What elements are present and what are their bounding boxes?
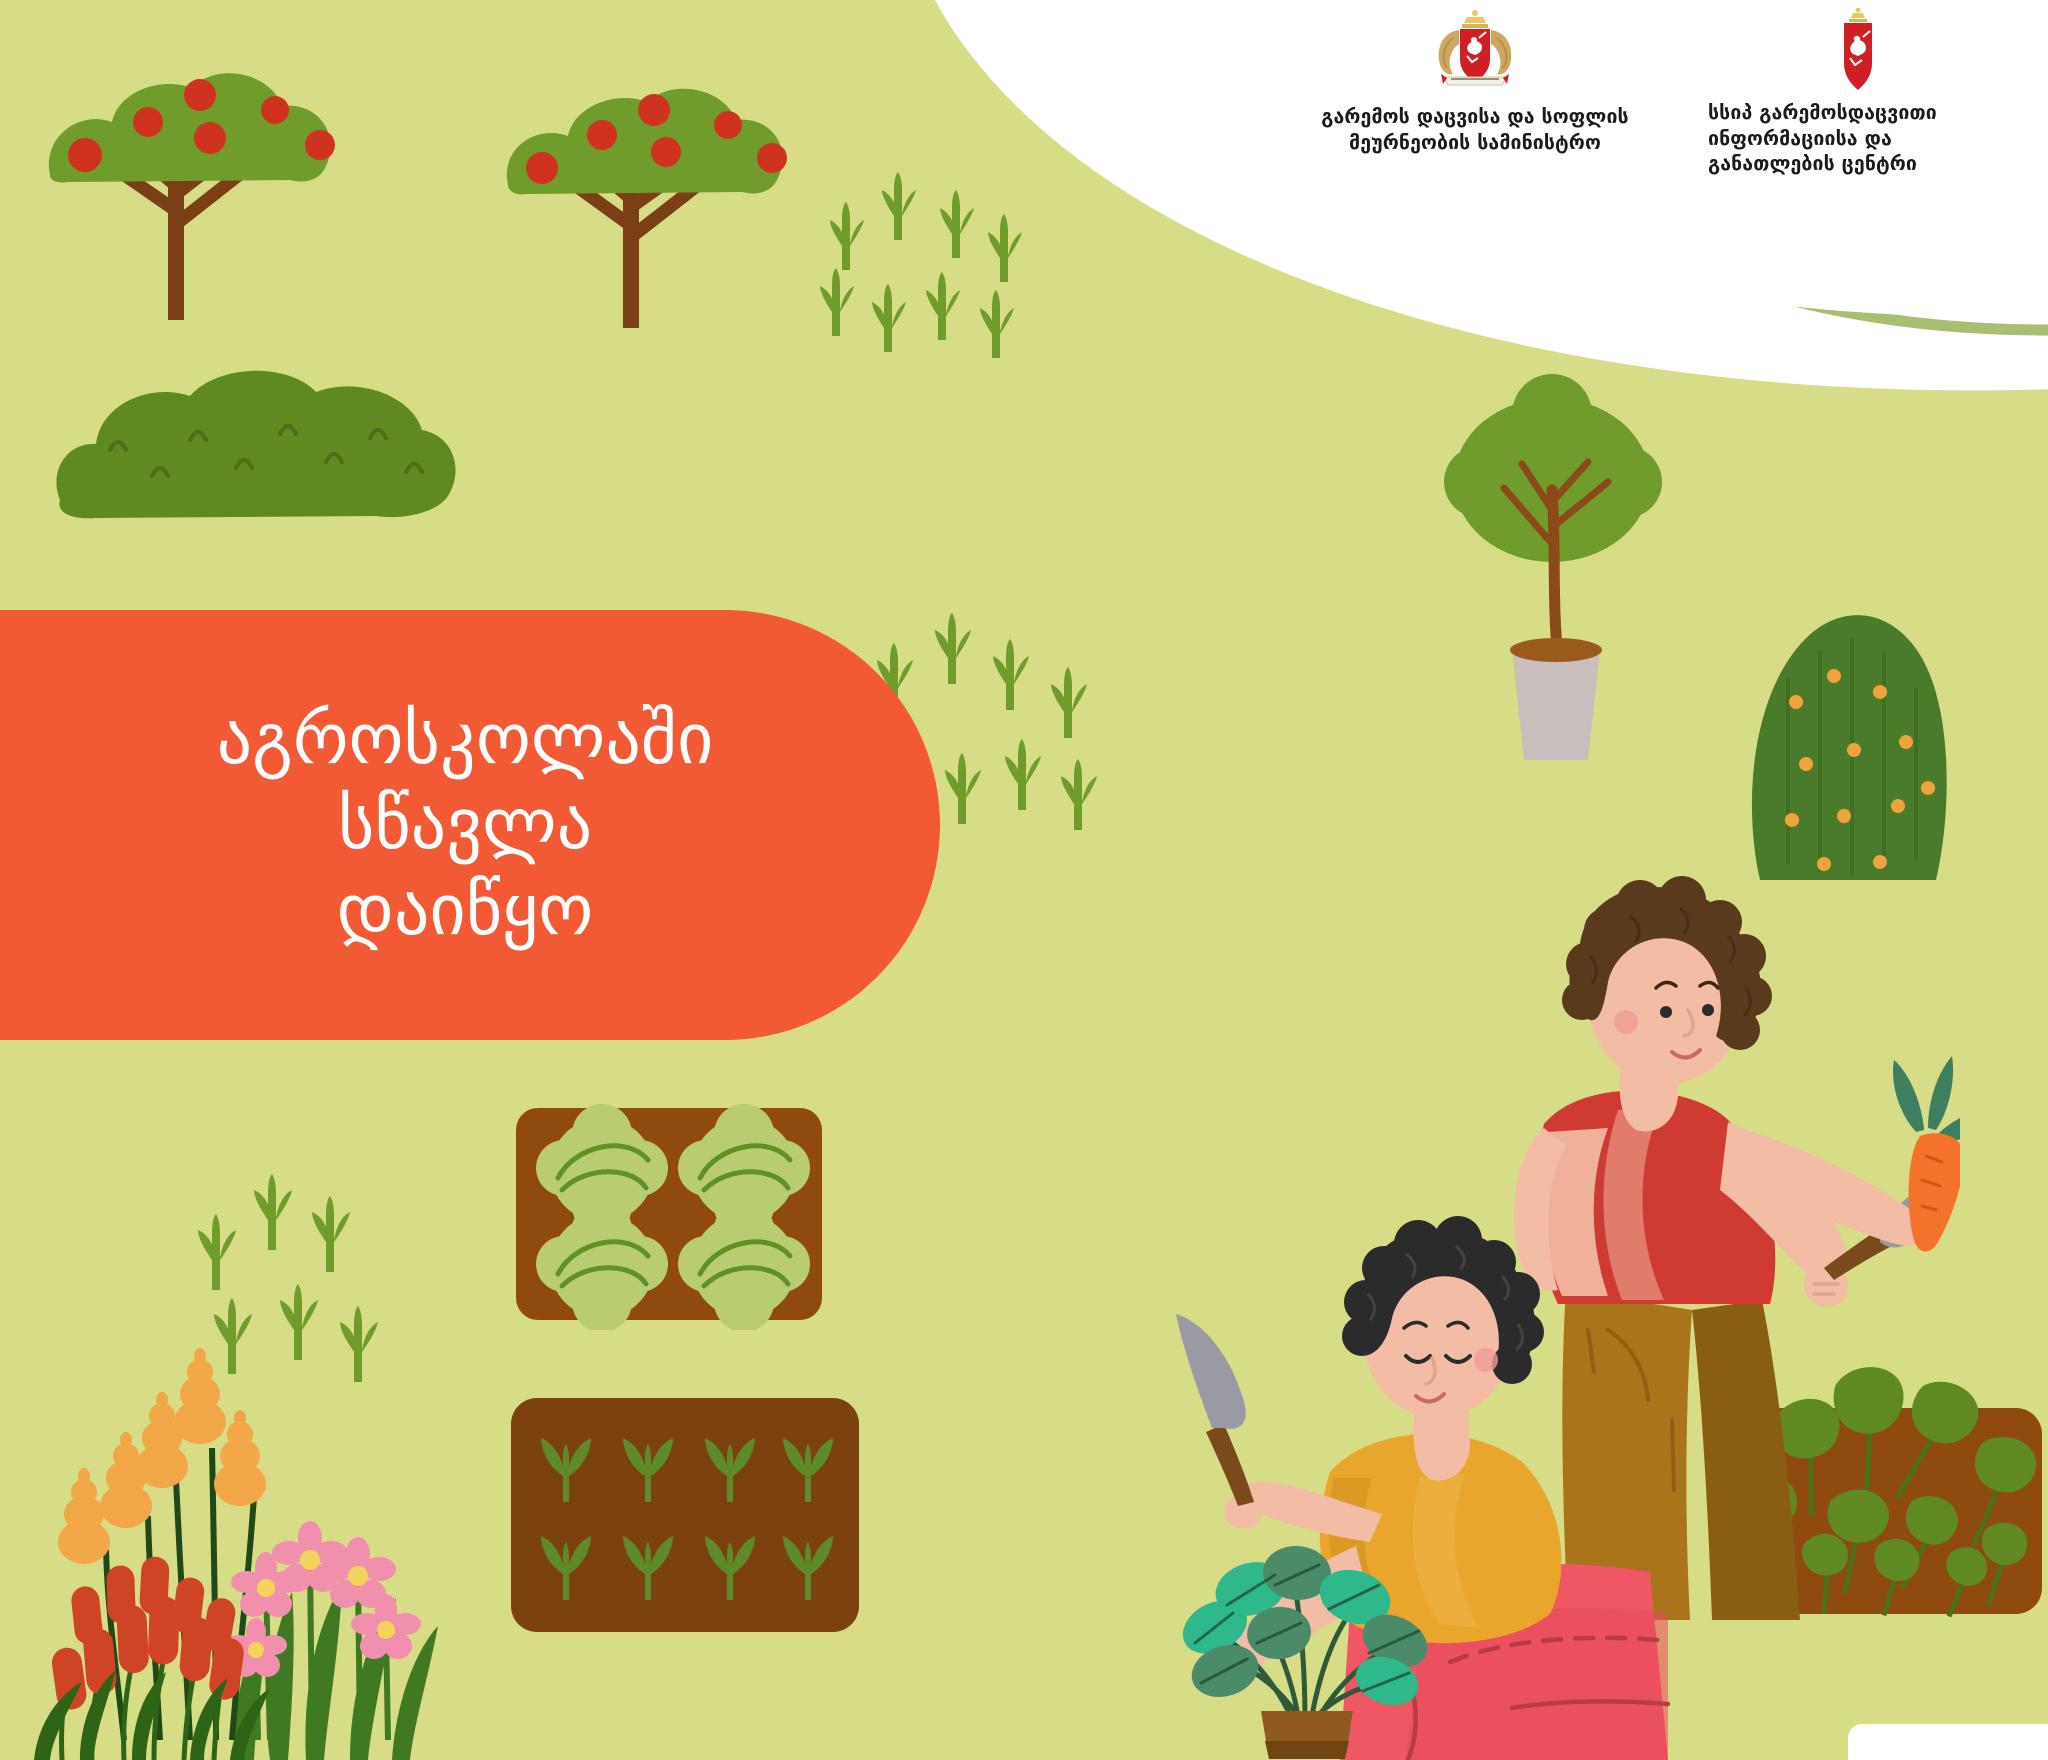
potted-tree: [1440, 370, 1670, 790]
title-line-3: დაიწყო: [217, 868, 714, 953]
flower-cluster: [20, 1320, 440, 1760]
hedge-bush: [40, 330, 470, 540]
title-line-2: სწავლა: [217, 782, 714, 867]
title-line-1: აგროსკოლაში: [217, 697, 714, 782]
header-logo-row: გარემოს დაცვისა და სოფლის მეურნეობის სამ…: [1310, 8, 2008, 177]
apple-tree-left: [20, 10, 350, 330]
logo-ministry-text: გარემოს დაცვისა და სოფლის მეურნეობის სამ…: [1321, 104, 1628, 155]
apple-tree-mid: [480, 30, 800, 330]
sprout-bed: [505, 1390, 865, 1640]
georgia-coat-of-arms-shield-icon: [1832, 8, 1884, 90]
page-title: აგროსკოლაში სწავლა დაიწყო: [217, 697, 714, 953]
bottom-right-corner-accent: [1848, 1724, 2048, 1760]
logo-ministry: გარემოს დაცვისა და სოფლის მეურნეობის სამ…: [1310, 8, 1640, 155]
cabbage-bed: [510, 1100, 830, 1330]
georgia-coat-of-arms-supporters-icon: [1429, 8, 1521, 94]
poster-canvas: გარემოს დაცვისა და სოფლის მეურნეობის სამ…: [0, 0, 2048, 1760]
logo-center: სსიპ გარემოსდაცვითი ინფორმაციისა და განა…: [1708, 8, 2008, 177]
logo-center-text: სსიპ გარემოსდაცვითი ინფორმაციისა და განა…: [1708, 100, 2008, 177]
title-banner: აგროსკოლაში სწავლა დაიწყო: [0, 610, 940, 1040]
potted-plant-prop: [1175, 1475, 1445, 1760]
